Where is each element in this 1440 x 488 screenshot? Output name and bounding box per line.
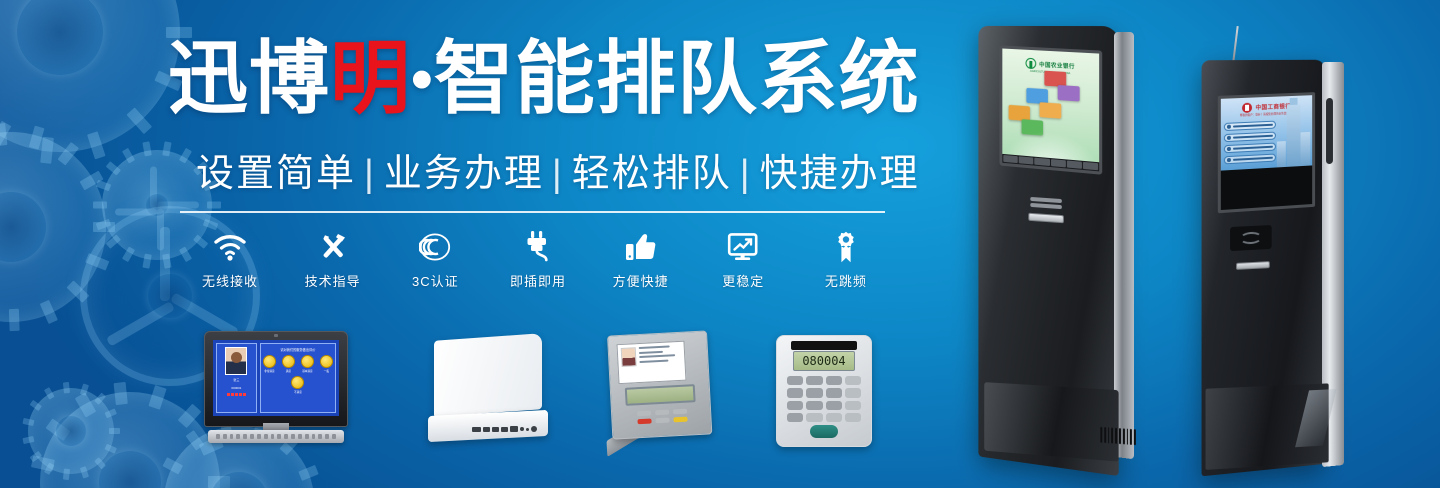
evaluation-option[interactable]: 非常满意 <box>263 355 276 373</box>
evaluation-option[interactable]: 不满意 <box>291 376 304 394</box>
feature-list: 无线接收 技术指导 <box>182 228 894 290</box>
keypad-call-button[interactable] <box>810 425 838 438</box>
kiosk-vent-grille <box>1100 427 1136 446</box>
kiosk-screen[interactable]: 中国工商银行 尊敬的客户：您好！请按您办理的业务类型取号 <box>1221 95 1312 171</box>
host-box-body <box>434 333 542 417</box>
subhead-item-2: 业务办理 <box>384 153 544 195</box>
banner-headline: 迅博明•智能排队系统 <box>168 38 908 120</box>
kiosk-screen-frame: 中国工商银行 尊敬的客户：您好！请按您办理的业务类型取号 <box>1218 92 1315 213</box>
thumbs-up-icon <box>593 228 689 266</box>
promo-banner: 迅博明•智能排队系统 设置简单|业务办理|轻松排队|快捷办理 无线接收 <box>0 0 1440 488</box>
product-evaluation-monitor: 张三 000001 请对我们的服务做出评价 非常满意 <box>204 331 348 443</box>
bank-logo-icon <box>1025 58 1036 70</box>
evaluation-option[interactable]: 基本满意 <box>301 355 314 373</box>
bullet-icon <box>1227 147 1231 151</box>
skyline-graphic <box>1265 97 1310 169</box>
evaluation-panel: 请对我们的服务做出评价 非常满意 满意 <box>260 343 336 413</box>
subhead-item-1: 设置简单 <box>196 153 356 195</box>
keypad-body: 080004 <box>776 335 872 447</box>
tools-icon <box>285 228 381 266</box>
smiley-icon-very-satisfied <box>263 355 276 368</box>
gear-hub <box>99 451 161 488</box>
gear-teeth <box>0 132 106 322</box>
evaluation-options: 非常满意 满意 基本满意 <box>263 355 333 394</box>
evaluator-body <box>607 330 712 439</box>
evaluation-option[interactable]: 一般 <box>320 355 333 373</box>
keypad-lcd-display: 080004 <box>793 351 855 371</box>
bullet-icon <box>1227 136 1231 140</box>
gear-hub <box>17 0 103 75</box>
staff-photo <box>225 347 247 375</box>
evaluator-name-card <box>616 341 686 385</box>
product-caller-keypad: 080004 <box>776 335 872 447</box>
host-box-port-row <box>472 426 538 432</box>
product-showcase: 张三 000001 请对我们的服务做出评价 非常满意 <box>0 315 900 455</box>
product-host-box <box>428 337 548 441</box>
headline-part2: 智能排队系统 <box>434 34 920 123</box>
service-tile[interactable] <box>1040 102 1062 119</box>
horizontal-divider <box>180 211 885 213</box>
option-label: 满意 <box>282 369 295 373</box>
monitor-screen: 张三 000001 请对我们的服务做出评价 非常满意 <box>213 340 339 416</box>
bullet-icon <box>1227 125 1231 129</box>
headline-highlight: 明 <box>330 34 411 123</box>
subhead-item-3: 轻松排队 <box>572 153 732 195</box>
headline-dot: • <box>411 45 434 114</box>
evaluator-keypad <box>624 408 701 432</box>
product-queue-kiosk-abc: 中国农业银行 AGRICULTURAL BANK OF CHINA <box>968 18 1144 470</box>
keypad-button-grid[interactable] <box>787 376 861 422</box>
subhead-item-4: 快捷办理 <box>760 153 920 195</box>
feature-item-plug-and-play: 即插即用 <box>490 228 586 290</box>
ccc-certification-icon <box>387 228 483 266</box>
feature-item-convenient: 方便快捷 <box>593 228 689 290</box>
feature-label: 3C认证 <box>387 271 483 290</box>
evaluator-key-row <box>624 416 700 425</box>
subhead-separator: | <box>356 153 384 195</box>
banner-subheadline: 设置简单|业务办理|轻松排队|快捷办理 <box>196 142 896 197</box>
smiley-icon-unsatisfied <box>291 376 304 389</box>
option-label: 一般 <box>320 369 333 373</box>
monitor-vent-grille <box>216 434 336 439</box>
monitor-chart-icon <box>695 228 791 266</box>
wifi-icon <box>182 228 278 266</box>
card-reader[interactable] <box>1230 225 1272 251</box>
kiosk-screen-frame: 中国农业银行 AGRICULTURAL BANK OF CHINA <box>999 45 1102 174</box>
gear-icon-mid-left <box>0 132 106 322</box>
monitor-bezel: 张三 000001 请对我们的服务做出评价 非常满意 <box>204 331 348 427</box>
monitor-stand-base <box>208 430 344 443</box>
monitor-power-led <box>274 334 278 337</box>
gear-teeth <box>0 0 180 152</box>
evaluator-lcd-display <box>625 384 696 406</box>
keypad-display-value: 080004 <box>802 354 845 368</box>
feature-item-no-frequency-hopping: 无跳频 <box>798 228 894 290</box>
rating-stars <box>227 393 246 396</box>
smiley-icon-neutral <box>320 355 333 368</box>
bullet-icon <box>1227 158 1231 162</box>
award-ribbon-icon <box>798 228 894 266</box>
kiosk-screen[interactable]: 中国农业银行 AGRICULTURAL BANK OF CHINA <box>1002 49 1099 172</box>
feature-item-3c-certification: 3C认证 <box>387 228 483 290</box>
feature-label: 即插即用 <box>490 271 586 290</box>
staff-id: 000001 <box>231 386 241 391</box>
keypad-top-strip <box>791 341 857 350</box>
name-card-photo <box>621 347 637 367</box>
name-card-text-lines <box>639 345 683 379</box>
feature-label: 无线接收 <box>182 271 278 290</box>
staff-info-panel: 张三 000001 <box>216 343 257 413</box>
service-tile[interactable] <box>1058 85 1080 102</box>
subhead-separator: | <box>732 153 760 195</box>
evaluation-title: 请对我们的服务做出评价 <box>263 347 333 352</box>
headline-part1: 迅博 <box>168 34 330 123</box>
staff-name: 张三 <box>233 378 239 383</box>
bank-logo-icon <box>1243 103 1253 113</box>
product-desk-evaluator <box>601 330 719 452</box>
subhead-separator: | <box>544 153 572 195</box>
kiosk-side-vent <box>1326 98 1333 164</box>
gear-hub <box>146 194 168 216</box>
feature-item-more-stable: 更稳定 <box>695 228 791 290</box>
gear-icon-top-left <box>0 0 180 152</box>
contactless-wave-icon <box>1240 231 1262 244</box>
evaluation-option[interactable]: 满意 <box>282 355 295 373</box>
feature-label: 方便快捷 <box>593 271 689 290</box>
product-queue-kiosk-icbc: 中国工商银行 尊敬的客户：您好！请按您办理的业务类型取号 <box>1196 26 1358 470</box>
feature-item-wireless: 无线接收 <box>182 228 278 290</box>
kiosk-base <box>984 382 1118 462</box>
smiley-icon-satisfied <box>282 355 295 368</box>
feature-item-tech-support: 技术指导 <box>285 228 381 290</box>
option-label: 非常满意 <box>263 369 276 373</box>
gear-hub <box>0 192 46 262</box>
option-label: 不满意 <box>291 390 304 394</box>
feature-label: 技术指导 <box>285 271 381 290</box>
feature-label: 无跳频 <box>798 271 894 290</box>
power-plug-icon <box>490 228 586 266</box>
feature-label: 更稳定 <box>695 271 791 290</box>
smiley-icon-basically-satisfied <box>301 355 314 368</box>
gear-hub <box>210 472 268 488</box>
option-label: 基本满意 <box>301 369 314 373</box>
